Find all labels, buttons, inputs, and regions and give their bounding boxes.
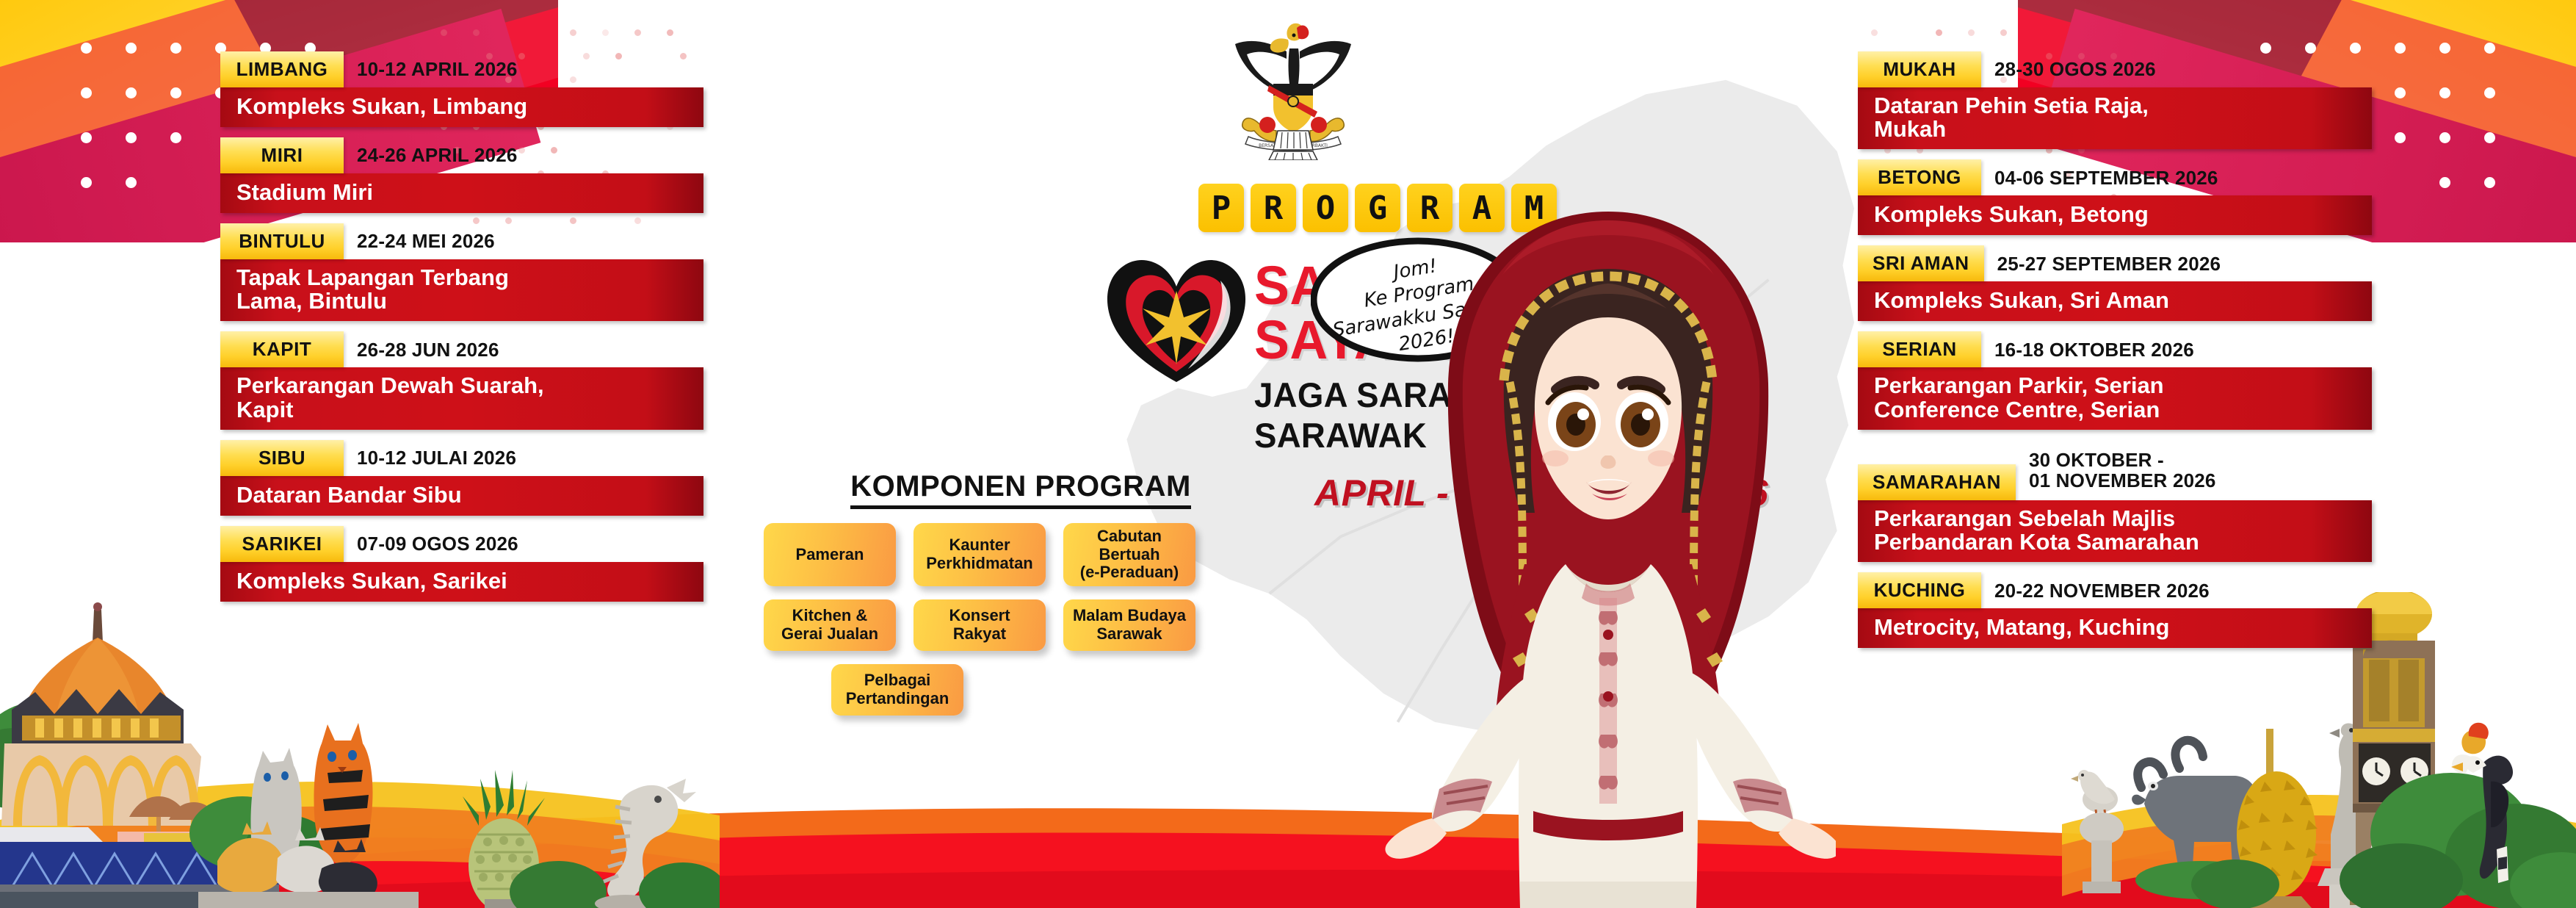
- program-letter-tile: R: [1251, 184, 1296, 232]
- city-name-tag: MIRI: [220, 137, 344, 173]
- city-name-tag: BETONG: [1858, 159, 1981, 195]
- event-date-label: 07-09 OGOS 2026: [344, 526, 518, 562]
- event-date-label: 22-24 MEI 2026: [344, 223, 495, 259]
- venue-label: Kompleks Sukan, Limbang: [220, 87, 703, 127]
- schedule-card-header: SERIAN16-18 OKTOBER 2026: [1858, 331, 2372, 367]
- city-name-tag: KUCHING: [1858, 572, 1981, 608]
- venue-label: Stadium Miri: [220, 173, 703, 213]
- schedule-card: MUKAH28-30 OGOS 2026Dataran Pehin Setia …: [1858, 51, 2372, 149]
- city-name-tag: LIMBANG: [220, 51, 344, 87]
- schedule-card: SAMARAHAN30 OKTOBER - 01 NOVEMBER 2026Pe…: [1858, 440, 2372, 562]
- schedule-card: SERIAN16-18 OKTOBER 2026Perkarangan Park…: [1858, 331, 2372, 429]
- city-name-tag: SAMARAHAN: [1858, 464, 2016, 500]
- component-pill[interactable]: Cabutan Bertuah (e-Peraduan): [1063, 523, 1195, 586]
- event-date-label: 10-12 JULAI 2026: [344, 440, 516, 476]
- schedule-card: KAPIT26-28 JUN 2026Perkarangan Dewah Sua…: [220, 331, 734, 429]
- event-date-label: 24-26 APRIL 2026: [344, 137, 518, 173]
- durian-monument-icon: [2191, 729, 2318, 908]
- venue-label: Dataran Pehin Setia Raja, Mukah: [1858, 87, 2372, 149]
- pineapple-monument-icon: [463, 770, 607, 908]
- seahorse-statue-icon: [595, 779, 720, 908]
- venue-label: Kompleks Sukan, Sarikei: [220, 562, 703, 602]
- program-letter-tile: P: [1198, 184, 1244, 232]
- schedule-card-header: KAPIT26-28 JUN 2026: [220, 331, 734, 367]
- venue-label: Perkarangan Dewah Suarah, Kapit: [220, 367, 703, 429]
- components-heading: KOMPONEN PROGRAM: [764, 470, 1278, 503]
- schedule-card-header: BINTULU22-24 MEI 2026: [220, 223, 734, 259]
- poster-canvas: LIMBANG10-12 APRIL 2026Kompleks Sukan, L…: [0, 0, 2576, 908]
- cat-statues-icon: [189, 723, 419, 908]
- city-name-tag: SARIKEI: [220, 526, 344, 562]
- schedule-column-left: LIMBANG10-12 APRIL 2026Kompleks Sukan, L…: [220, 51, 734, 612]
- component-pill[interactable]: Konsert Rakyat: [913, 599, 1046, 651]
- city-name-tag: KAPIT: [220, 331, 344, 367]
- schedule-card: BETONG04-06 SEPTEMBER 2026Kompleks Sukan…: [1858, 159, 2372, 235]
- event-date-label: 20-22 NOVEMBER 2026: [1981, 572, 2210, 608]
- dove-statue-icon: [2071, 770, 2124, 893]
- mascot-girl-icon: [1381, 182, 1836, 908]
- event-date-label: 26-28 JUN 2026: [344, 331, 499, 367]
- venue-label: Dataran Bandar Sibu: [220, 476, 703, 516]
- schedule-card-header: SIBU10-12 JULAI 2026: [220, 440, 734, 476]
- schedule-card-header: BETONG04-06 SEPTEMBER 2026: [1858, 159, 2372, 195]
- schedule-card-header: SARIKEI07-09 OGOS 2026: [220, 526, 734, 562]
- venue-label: Tapak Lapangan Terbang Lama, Bintulu: [220, 259, 703, 321]
- component-pill[interactable]: Kitchen & Gerai Jualan: [764, 599, 896, 651]
- schedule-card: KUCHING20-22 NOVEMBER 2026Metrocity, Mat…: [1858, 572, 2372, 648]
- venue-label: Metrocity, Matang, Kuching: [1858, 608, 2372, 648]
- event-date-label: 10-12 APRIL 2026: [344, 51, 518, 87]
- sarawak-coat-of-arms-icon: BERSATU BERUSAHA BERBAKTI: [1223, 13, 1363, 160]
- dun-building-icon: [0, 602, 279, 908]
- schedule-card-header: MUKAH28-30 OGOS 2026: [1858, 51, 2372, 87]
- city-name-tag: SRI AMAN: [1858, 245, 1984, 281]
- hornbill-icon: [2451, 723, 2513, 883]
- program-letter-tile: O: [1303, 184, 1348, 232]
- schedule-card: SRI AMAN25-27 SEPTEMBER 2026Kompleks Suk…: [1858, 245, 2372, 321]
- event-date-label: 25-27 SEPTEMBER 2026: [1984, 245, 2221, 281]
- buffalo-statue-icon: [2132, 741, 2268, 899]
- component-pill[interactable]: Pameran: [764, 523, 896, 586]
- sarawak-heart-flag-icon: [1103, 250, 1250, 386]
- city-name-tag: BINTULU: [220, 223, 344, 259]
- schedule-card-header: MIRI24-26 APRIL 2026: [220, 137, 734, 173]
- city-name-tag: MUKAH: [1858, 51, 1981, 87]
- schedule-card-header: SRI AMAN25-27 SEPTEMBER 2026: [1858, 245, 2372, 281]
- city-name-tag: SIBU: [220, 440, 344, 476]
- event-date-label: 16-18 OKTOBER 2026: [1981, 331, 2194, 367]
- component-pill[interactable]: Kaunter Perkhidmatan: [913, 523, 1046, 586]
- event-date-label: 04-06 SEPTEMBER 2026: [1981, 159, 2218, 195]
- schedule-card: LIMBANG10-12 APRIL 2026Kompleks Sukan, L…: [220, 51, 734, 127]
- schedule-card-header: KUCHING20-22 NOVEMBER 2026: [1858, 572, 2372, 608]
- schedule-card: MIRI24-26 APRIL 2026Stadium Miri: [220, 137, 734, 213]
- event-date-label: 28-30 OGOS 2026: [1981, 51, 2156, 87]
- venue-label: Perkarangan Parkir, Serian Conference Ce…: [1858, 367, 2372, 429]
- schedule-card: SIBU10-12 JULAI 2026Dataran Bandar Sibu: [220, 440, 734, 516]
- event-date-label: 30 OKTOBER - 01 NOVEMBER 2026: [2016, 440, 2216, 500]
- city-name-tag: SERIAN: [1858, 331, 1981, 367]
- landmark-collage-left: [0, 599, 720, 908]
- schedule-column-right: MUKAH28-30 OGOS 2026Dataran Pehin Setia …: [1858, 51, 2372, 658]
- component-pill[interactable]: Pelbagai Pertandingan: [831, 664, 963, 716]
- venue-label: Perkarangan Sebelah Majlis Perbandaran K…: [1858, 500, 2372, 562]
- venue-label: Kompleks Sukan, Sri Aman: [1858, 281, 2372, 321]
- schedule-card: BINTULU22-24 MEI 2026Tapak Lapangan Terb…: [220, 223, 734, 321]
- center-block: BERSATU BERUSAHA BERBAKTI PROGRAM SARAWA…: [764, 0, 1821, 908]
- swan-statue-icon: [2318, 724, 2438, 908]
- venue-label: Kompleks Sukan, Betong: [1858, 195, 2372, 235]
- schedule-card-header: LIMBANG10-12 APRIL 2026: [220, 51, 734, 87]
- component-pill[interactable]: Malam Budaya Sarawak: [1063, 599, 1195, 651]
- components-heading-text: KOMPONEN PROGRAM: [850, 470, 1191, 509]
- schedule-card: SARIKEI07-09 OGOS 2026Kompleks Sukan, Sa…: [220, 526, 734, 602]
- components-pill-grid: PameranKaunter PerkhidmatanCabutan Bertu…: [764, 523, 1278, 716]
- schedule-card-header: SAMARAHAN30 OKTOBER - 01 NOVEMBER 2026: [1858, 440, 2372, 500]
